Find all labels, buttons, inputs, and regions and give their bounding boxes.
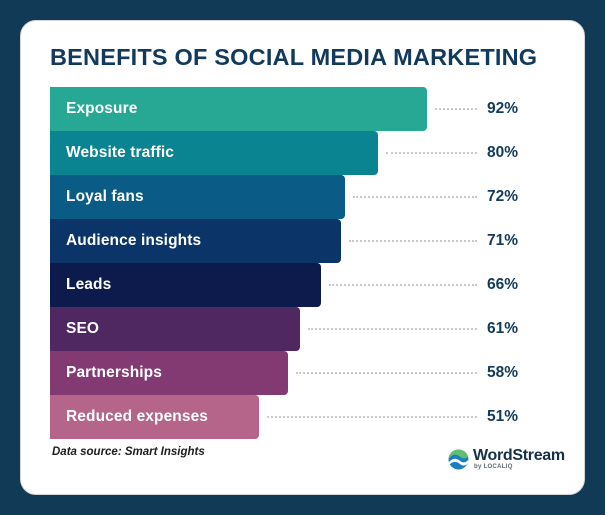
bar-value-label: 66% (487, 263, 547, 307)
bar-row: Leads66% (21, 263, 584, 307)
bar-category-label: Website traffic (66, 131, 174, 175)
bar-row: Partnerships58% (21, 351, 584, 395)
bar-value-label: 51% (487, 395, 547, 439)
bar-category-label: Reduced expenses (66, 395, 208, 439)
bar-value-label: 80% (487, 131, 547, 175)
bar-category-label: Audience insights (66, 219, 201, 263)
leader-line (386, 152, 477, 154)
bar-value-label: 58% (487, 351, 547, 395)
leader-line (267, 416, 477, 418)
brand-logo[interactable]: WordStream by LOCALIQ (448, 445, 558, 475)
leader-line (329, 284, 477, 286)
bar-category-label: Loyal fans (66, 175, 144, 219)
bar-category-label: Leads (66, 263, 111, 307)
bar-value-label: 72% (487, 175, 547, 219)
bar-row: Loyal fans72% (21, 175, 584, 219)
bar-value-label: 92% (487, 87, 547, 131)
bar-category-label: Partnerships (66, 351, 162, 395)
infographic-root: BENEFITS OF SOCIAL MEDIA MARKETING Expos… (0, 0, 605, 515)
bar-value-label: 71% (487, 219, 547, 263)
bar-row: Audience insights71% (21, 219, 584, 263)
bar-row: Exposure92% (21, 87, 584, 131)
data-source-note: Data source: Smart Insights (52, 446, 205, 458)
bar-row: SEO61% (21, 307, 584, 351)
page-title: BENEFITS OF SOCIAL MEDIA MARKETING (50, 44, 537, 71)
chart-card: BENEFITS OF SOCIAL MEDIA MARKETING Expos… (20, 20, 585, 495)
bar-chart: Exposure92%Website traffic80%Loyal fans7… (21, 87, 584, 439)
leader-line (308, 328, 477, 330)
brand-wordmark: WordStream (473, 447, 565, 465)
bar-category-label: Exposure (66, 87, 137, 131)
bar-row: Reduced expenses51% (21, 395, 584, 439)
leader-line (296, 372, 477, 374)
brand-tagline: by LOCALIQ (474, 464, 513, 470)
bar-row: Website traffic80% (21, 131, 584, 175)
leader-line (349, 240, 477, 242)
bar-value-label: 61% (487, 307, 547, 351)
leader-line (435, 108, 477, 110)
bar-category-label: SEO (66, 307, 99, 351)
leader-line (353, 196, 477, 198)
wordstream-circle-logo-icon (448, 449, 469, 470)
